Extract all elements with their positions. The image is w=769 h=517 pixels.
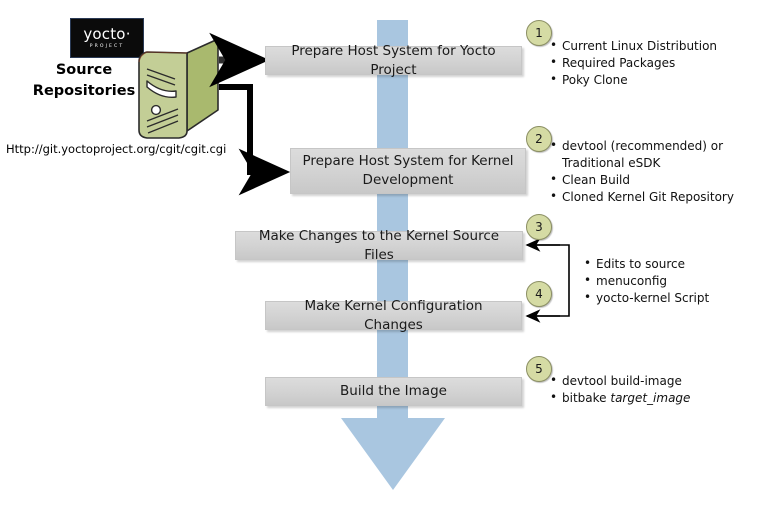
- process-box-build-image[interactable]: Build the Image: [265, 377, 522, 406]
- note-command-italic: target_image: [610, 391, 690, 405]
- list-item: bitbake target_image: [549, 390, 690, 407]
- list-item: Poky Clone: [549, 72, 717, 89]
- list-item: Cloned Kernel Git Repository: [549, 189, 734, 206]
- workflow-spine-arrowhead: [341, 418, 445, 490]
- note-text-line-2: Traditional eSDK: [562, 155, 734, 172]
- yocto-logo-subtitle: PROJECT: [90, 43, 125, 50]
- step-notes-5: devtool build-image bitbake target_image: [549, 373, 690, 407]
- list-item: Clean Build: [549, 172, 734, 189]
- list-item: yocto-kernel Script: [583, 290, 709, 307]
- step-notes-1: Current Linux Distribution Required Pack…: [549, 38, 717, 89]
- step-number-badge-3: 3: [526, 214, 552, 240]
- process-box-prepare-host-yocto[interactable]: Prepare Host System for Yocto Project: [265, 46, 522, 75]
- list-item: devtool build-image: [549, 373, 690, 390]
- list-item: devtool (recommended) or Traditional eSD…: [549, 138, 734, 172]
- note-command-plain: bitbake: [562, 391, 610, 405]
- process-box-prepare-host-kernel-text: Prepare Host System for KernelDevelopmen…: [302, 152, 513, 190]
- source-label-line-1: Source: [20, 60, 148, 81]
- server-tower-icon: [135, 37, 220, 140]
- step-number-badge-4: 4: [526, 281, 552, 307]
- yocto-logo-wordmark: yocto·: [83, 27, 130, 42]
- list-item: Current Linux Distribution: [549, 38, 717, 55]
- source-label-line-2: Repositories: [20, 81, 148, 102]
- process-box-prepare-host-kernel[interactable]: Prepare Host System for KernelDevelopmen…: [290, 148, 526, 194]
- step-notes-shared-3-4: Edits to source menuconfig yocto-kernel …: [583, 256, 709, 307]
- source-repositories-label: Source Repositories: [20, 60, 148, 102]
- step-notes-2: devtool (recommended) or Traditional eSD…: [549, 138, 734, 206]
- diagram-canvas: yocto· PROJECT Source Repositories Http:…: [0, 0, 769, 517]
- list-item: Required Packages: [549, 55, 717, 72]
- list-item: menuconfig: [583, 273, 709, 290]
- list-item: Edits to source: [583, 256, 709, 273]
- yocto-project-logo: yocto· PROJECT: [70, 18, 144, 58]
- source-repository-url: Http://git.yoctoproject.org/cgit/cgit.cg…: [6, 142, 236, 156]
- note-text-line-1: devtool (recommended) or: [562, 139, 723, 153]
- process-box-make-source-changes[interactable]: Make Changes to the Kernel Source Files: [235, 231, 523, 260]
- process-box-make-config-changes[interactable]: Make Kernel Configuration Changes: [265, 301, 522, 330]
- workflow-spine: [377, 20, 408, 420]
